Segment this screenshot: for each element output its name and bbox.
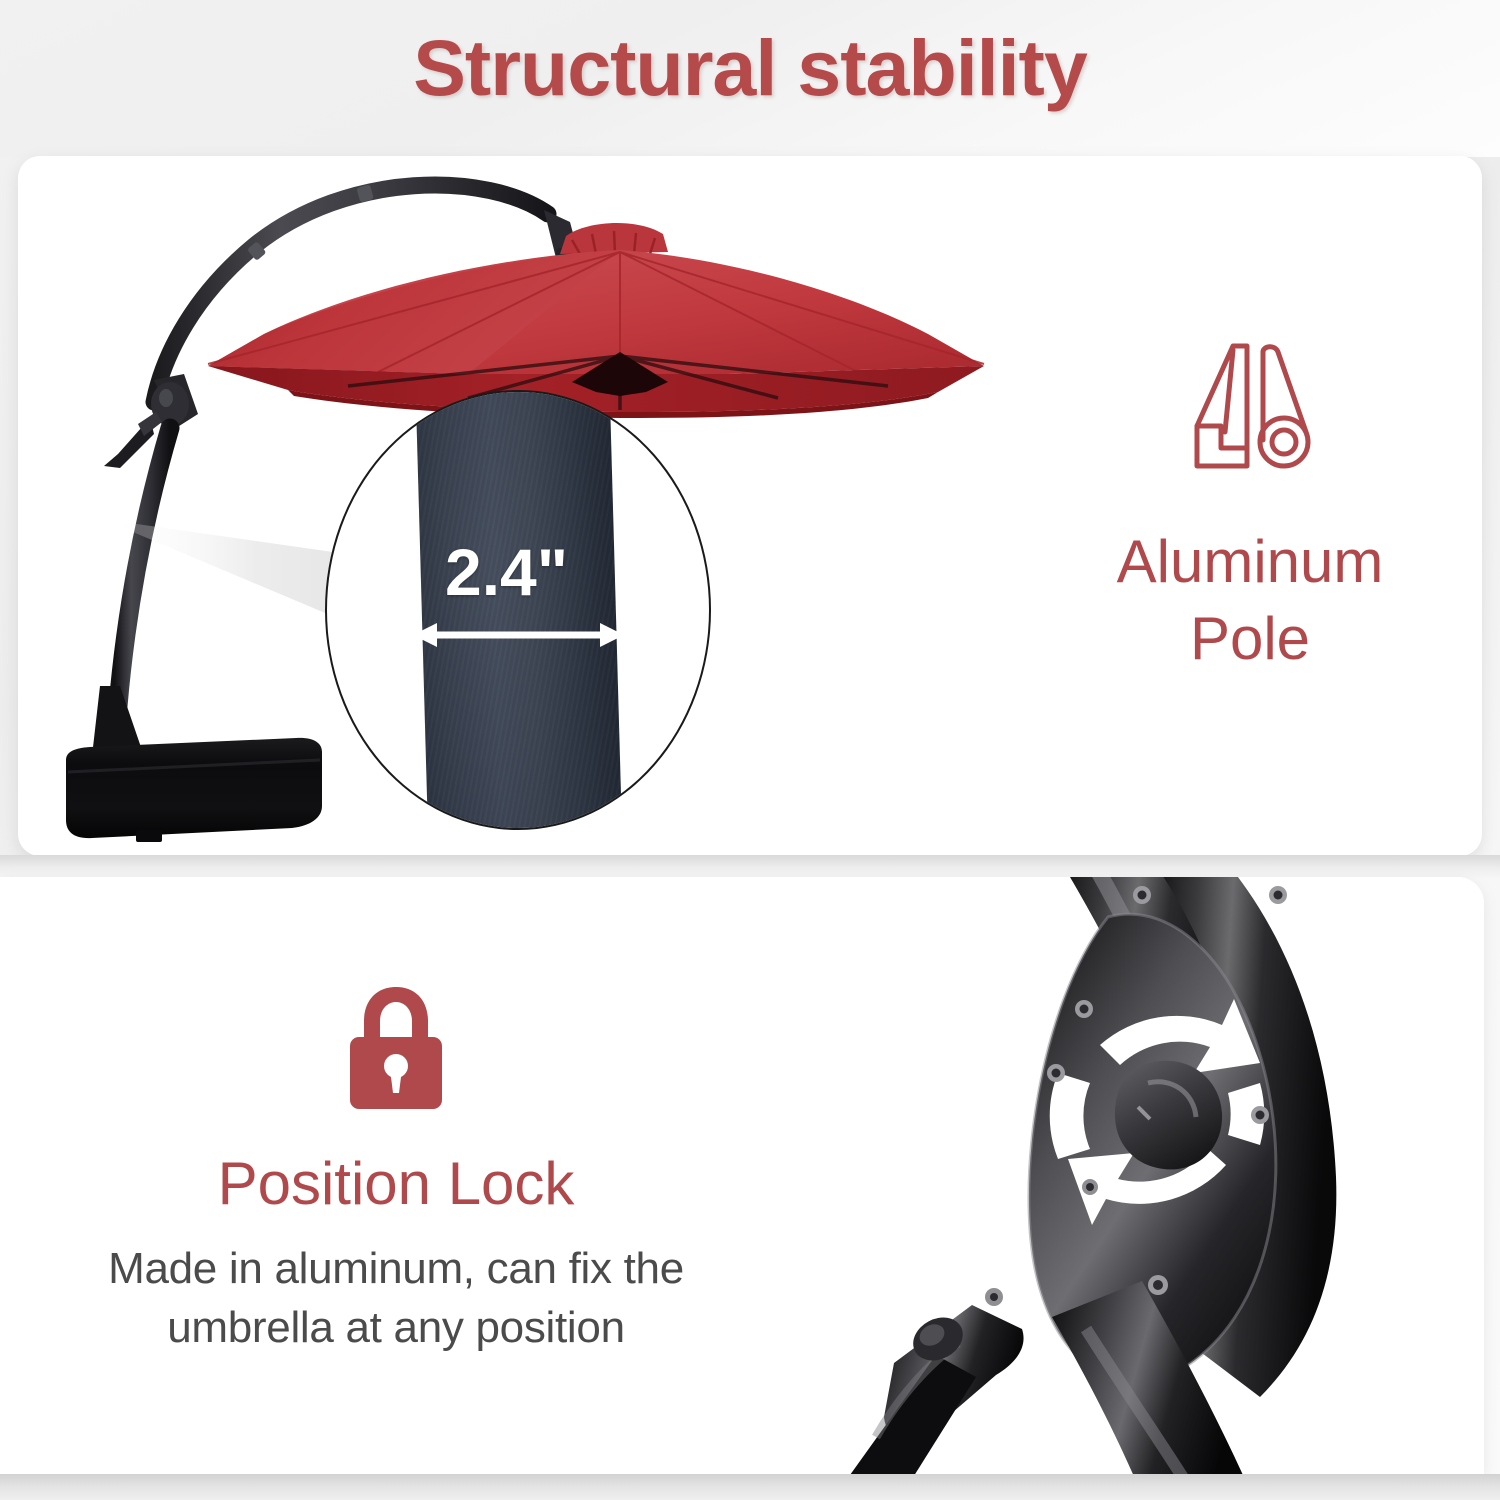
position-lock-panel: Position Lock Made in aluminum, can fix … [0, 877, 1484, 1475]
aluminum-extrusion-icon [1175, 336, 1325, 476]
feature-body-line2: umbrella at any position [167, 1303, 625, 1352]
feature-position-lock-title: Position Lock [16, 1149, 776, 1218]
feature-title-line2: Pole [1190, 605, 1310, 672]
panel-divider [0, 855, 1500, 879]
footer-band [0, 1474, 1500, 1500]
feature-position-lock: Position Lock Made in aluminum, can fix … [16, 981, 776, 1358]
hinge-joint-graphic [790, 877, 1484, 1475]
feature-body-line1: Made in aluminum, can fix the [108, 1244, 684, 1293]
page-title: Structural stability [0, 22, 1500, 114]
hinge-joint-closeup [790, 877, 1484, 1475]
feature-aluminum-pole-title: Aluminum Pole [1018, 524, 1482, 678]
magnifier-circle: 2.4" [325, 390, 711, 830]
feature-position-lock-body: Made in aluminum, can fix the umbrella a… [16, 1240, 776, 1358]
padlock-icon [342, 981, 450, 1113]
infographic-page: Structural stability [0, 0, 1500, 1500]
structural-stability-panel: 2.4" [18, 156, 1482, 856]
cantilever-umbrella-photo: 2.4" [18, 156, 1028, 856]
pole-closeup-texture [415, 390, 623, 830]
feature-aluminum-pole: Aluminum Pole [1018, 336, 1482, 678]
double-headed-arrow-icon [411, 620, 626, 650]
umbrella-base-graphic [48, 686, 338, 856]
pole-diameter-label: 2.4" [445, 534, 568, 610]
feature-title-line1: Aluminum [1117, 528, 1384, 595]
